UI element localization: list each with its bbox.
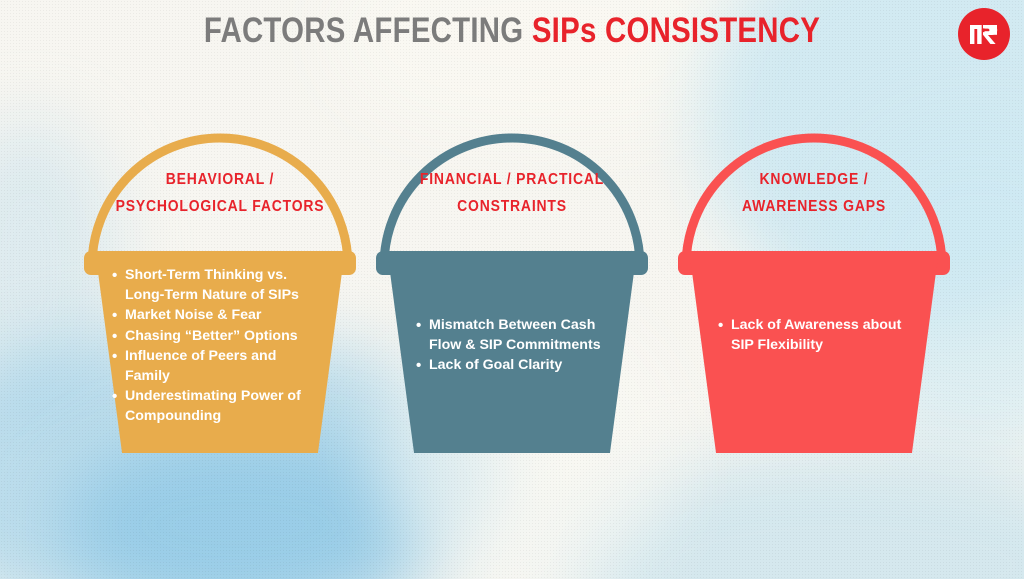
list-item: •Lack of Awareness about SIP Flexibility xyxy=(731,316,906,355)
list-item: •Influence of Peers and Family xyxy=(125,347,318,386)
list-item-label: Lack of Awareness about SIP Flexibility xyxy=(731,317,901,353)
bucket-item-list: •Lack of Awareness about SIP Flexibility xyxy=(716,316,906,356)
bullet-icon: • xyxy=(718,316,723,336)
bucket-header: BEHAVIORAL / PSYCHOLOGICAL FACTORS xyxy=(76,166,364,220)
list-item: •Market Noise & Fear xyxy=(125,306,318,326)
moneyworks4me-logo[interactable] xyxy=(958,8,1010,60)
bucket-financial-practical-constraints: FINANCIAL / PRACTICAL CONSTRAINTS •Misma… xyxy=(362,120,662,470)
list-item-label: Lack of Goal Clarity xyxy=(429,357,562,373)
bucket-header-line: BEHAVIORAL / xyxy=(90,166,349,193)
bucket-header-line: KNOWLEDGE / xyxy=(684,166,943,193)
page-title-prefix: FACTORS AFFECTING xyxy=(204,11,532,50)
bucket-header: KNOWLEDGE / AWARENESS GAPS xyxy=(670,166,958,220)
list-item: •Underestimating Power of Compounding xyxy=(125,387,318,426)
bucket-item-list: •Short-Term Thinking vs. Long-Term Natur… xyxy=(110,266,318,427)
bucket-header-line: PSYCHOLOGICAL FACTORS xyxy=(90,193,349,220)
bullet-icon: • xyxy=(112,327,117,347)
bucket-behavioral-psychological-factors: BEHAVIORAL / PSYCHOLOGICAL FACTORS •Shor… xyxy=(70,120,370,470)
list-item-label: Chasing “Better” Options xyxy=(125,328,298,344)
bucket-header-line: CONSTRAINTS xyxy=(382,193,641,220)
bucket-item-list: •Mismatch Between Cash Flow & SIP Commit… xyxy=(414,316,610,377)
bullet-icon: • xyxy=(112,266,117,286)
bucket-header-line: FINANCIAL / PRACTICAL xyxy=(382,166,641,193)
list-item-label: Influence of Peers and Family xyxy=(125,348,276,384)
bullet-icon: • xyxy=(112,387,117,407)
list-item-label: Mismatch Between Cash Flow & SIP Commitm… xyxy=(429,317,601,353)
page-title-highlight: SIPs CONSISTENCY xyxy=(532,11,820,50)
list-item: •Lack of Goal Clarity xyxy=(429,356,610,376)
list-item-label: Market Noise & Fear xyxy=(125,307,261,323)
list-item: •Mismatch Between Cash Flow & SIP Commit… xyxy=(429,316,610,355)
list-item: •Short-Term Thinking vs. Long-Term Natur… xyxy=(125,266,318,305)
list-item-label: Underestimating Power of Compounding xyxy=(125,388,301,424)
bullet-icon: • xyxy=(112,306,117,326)
bullet-icon: • xyxy=(416,356,421,376)
list-item: •Chasing “Better” Options xyxy=(125,327,318,347)
page-title: FACTORS AFFECTING SIPs CONSISTENCY xyxy=(82,10,942,52)
bucket-header-line: AWARENESS GAPS xyxy=(684,193,943,220)
list-item-label: Short-Term Thinking vs. Long-Term Nature… xyxy=(125,267,299,303)
bucket-knowledge-awareness-gaps: KNOWLEDGE / AWARENESS GAPS •Lack of Awar… xyxy=(664,120,964,470)
bucket-header: FINANCIAL / PRACTICAL CONSTRAINTS xyxy=(368,166,656,220)
bullet-icon: • xyxy=(112,347,117,367)
bullet-icon: • xyxy=(416,316,421,336)
